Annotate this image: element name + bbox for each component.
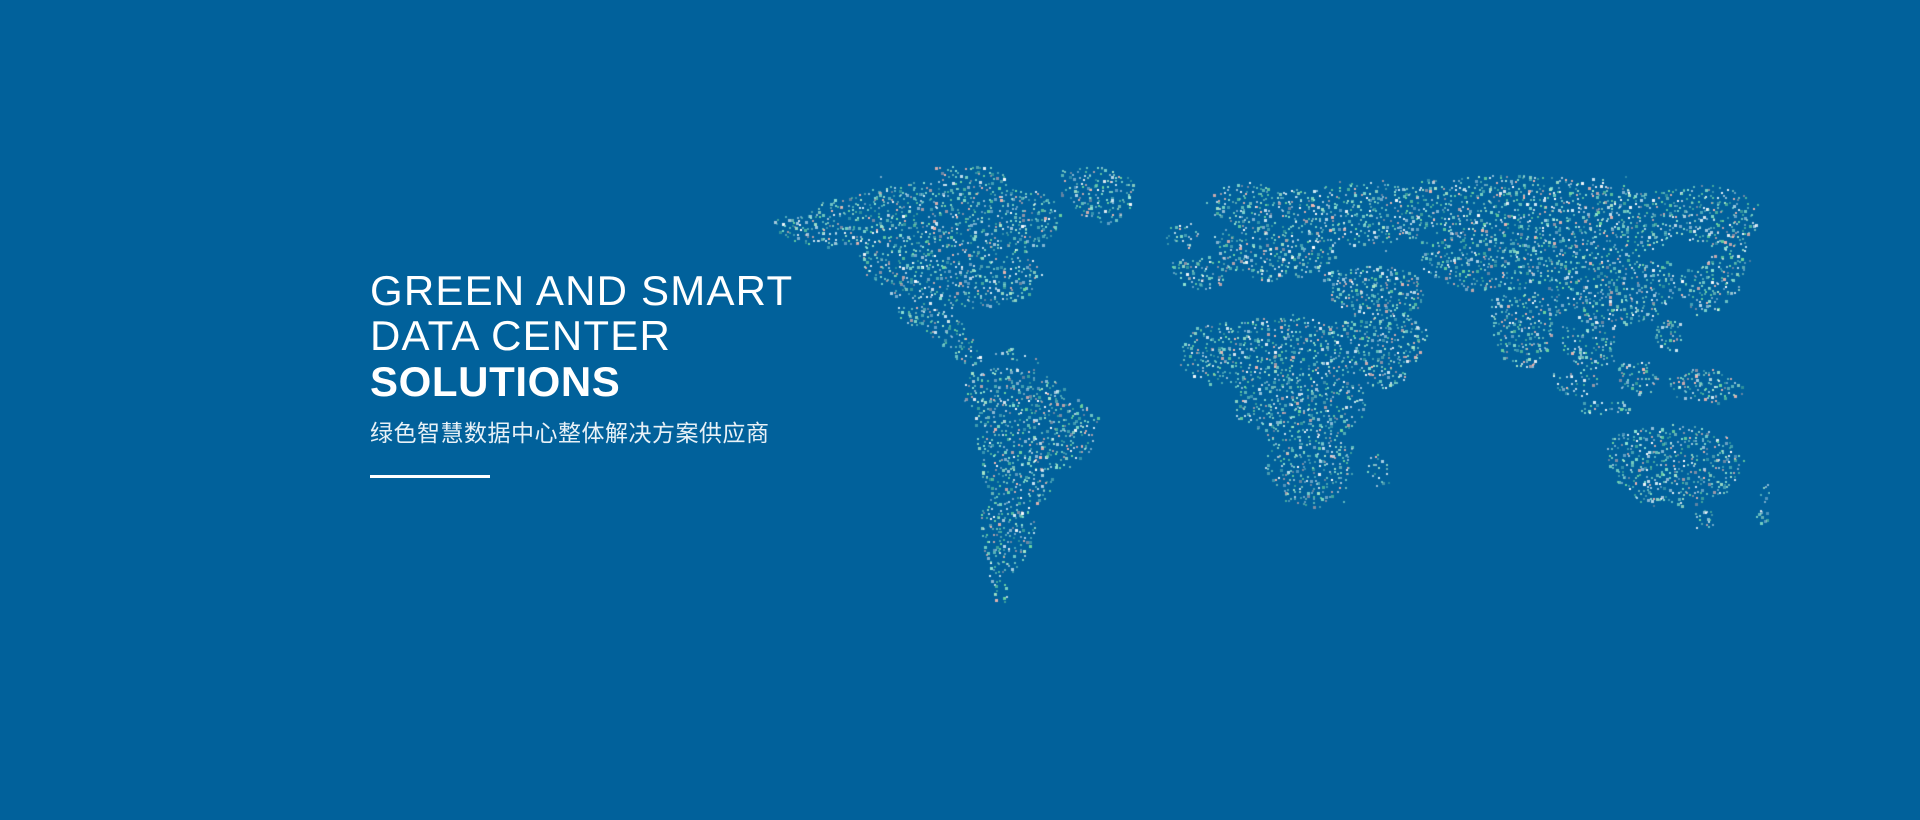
headline-line-data-center: DATA CENTER <box>370 313 990 358</box>
hero-banner: GREEN AND SMART DATA CENTER SOLUTIONS 绿色… <box>0 0 1920 820</box>
headline-block: GREEN AND SMART DATA CENTER SOLUTIONS 绿色… <box>370 268 990 478</box>
headline-line-solutions: SOLUTIONS <box>370 359 990 404</box>
headline-line-green-and-smart: GREEN AND SMART <box>370 268 990 313</box>
accent-rule <box>370 475 490 478</box>
subtitle-chinese: 绿色智慧数据中心整体解决方案供应商 <box>370 418 990 448</box>
